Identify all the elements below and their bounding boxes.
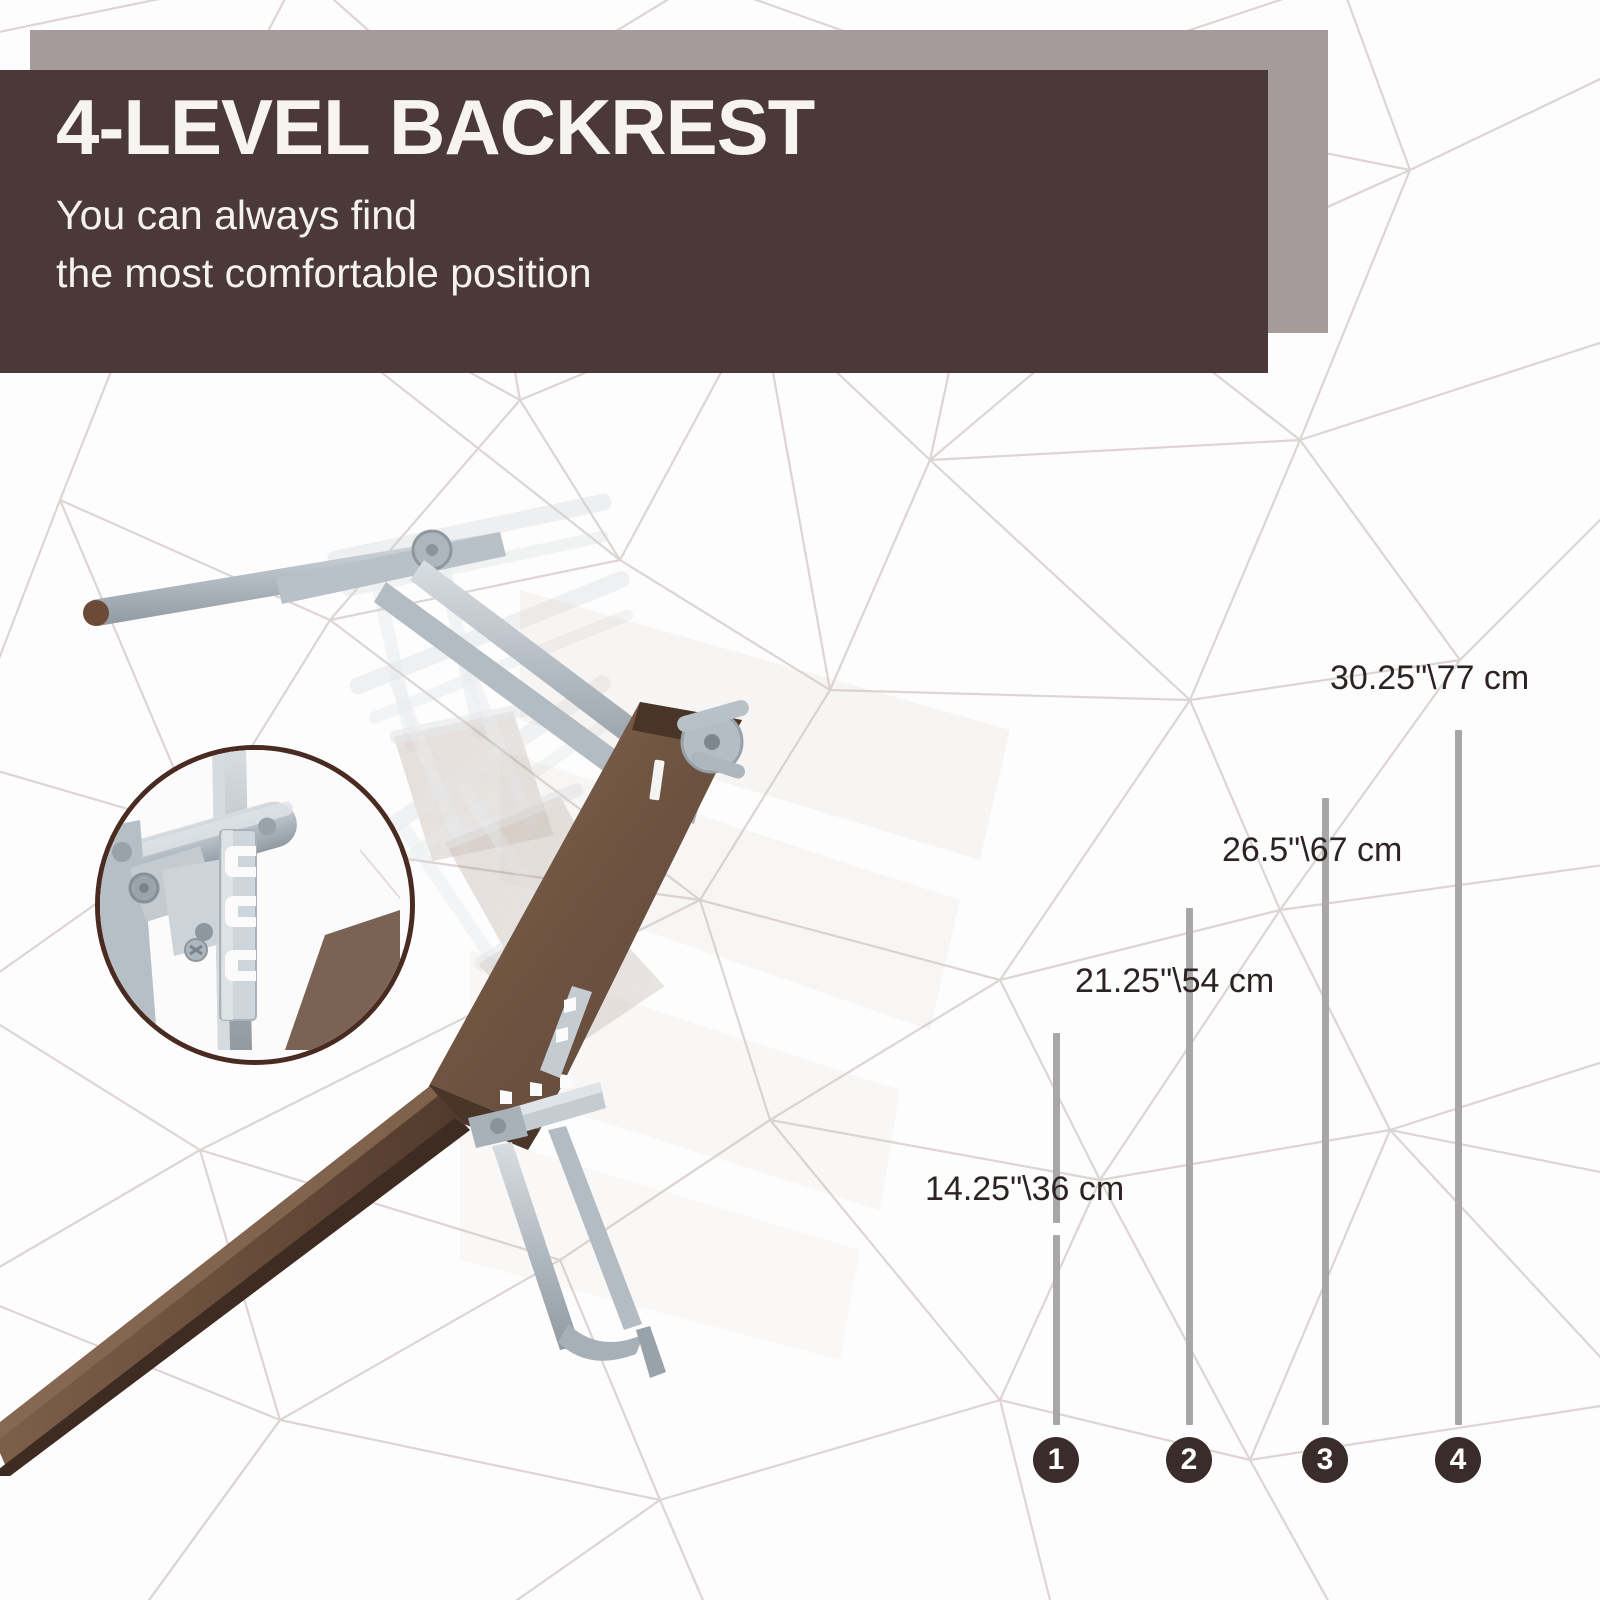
detail-callout-circle: [95, 745, 415, 1065]
measure-badge-4: 4: [1435, 1437, 1481, 1483]
measure-label-2: 21.25"\54 cm: [1075, 964, 1274, 998]
measure-label-3: 26.5"\67 cm: [1222, 833, 1402, 867]
measure-line-4: [1455, 730, 1462, 1425]
measure-line-2-lower: [1186, 1022, 1193, 1425]
measure-badge-3: 3: [1302, 1437, 1348, 1483]
measure-label-4: 30.25"\77 cm: [1330, 661, 1529, 695]
measure-line-1-lower: [1053, 1235, 1060, 1425]
measure-label-1: 14.25"\36 cm: [925, 1172, 1124, 1206]
measure-badge-1: 1: [1033, 1437, 1079, 1483]
measure-line-3-lower: [1322, 880, 1329, 1425]
infographic-stage: 4-LEVEL BACKREST You can always find the…: [0, 0, 1600, 1600]
measure-badge-2: 2: [1166, 1437, 1212, 1483]
ratchet-mechanism-icon: [100, 750, 400, 1050]
